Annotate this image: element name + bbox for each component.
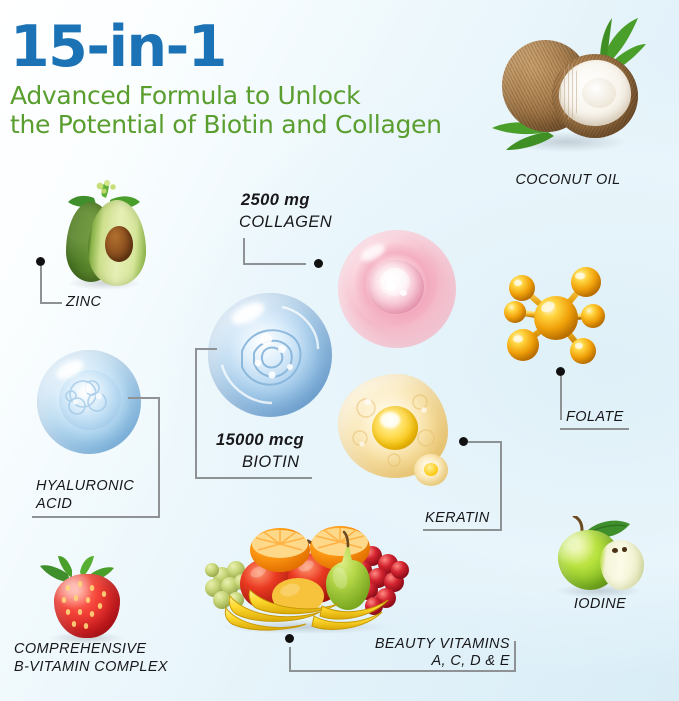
connector-dot-folate xyxy=(556,367,565,376)
connector-dot-zinc xyxy=(36,257,45,266)
label-biotin: BIOTIN xyxy=(242,452,299,472)
label-b-vitamin-complex: COMPREHENSIVE B-VITAMIN COMPLEX xyxy=(14,641,168,676)
connector-bracket-biotin-top xyxy=(195,348,217,350)
label-hyaluronic-acid: HYALURONIC ACID xyxy=(36,478,134,513)
connector-line-collagen-horizontal xyxy=(243,263,306,265)
connector-dot-beauty-vitamins xyxy=(285,634,294,643)
label-biotin-amount: 15000 mcg xyxy=(216,430,304,450)
label-collagen: COLLAGEN xyxy=(239,212,332,232)
connector-line-folate-vertical xyxy=(560,376,562,420)
label-beauty-vitamins: BEAUTY VITAMINS xyxy=(334,636,510,654)
label-beauty-vitamins-sub: A, C, D & E xyxy=(334,653,510,671)
label-folate: FOLATE xyxy=(566,409,624,427)
connector-dot-collagen xyxy=(314,259,323,268)
connector-line-zinc-horizontal xyxy=(40,302,62,304)
connector-bracket-bv-left xyxy=(289,647,291,672)
connector-bracket-ha-top xyxy=(128,397,160,399)
connector-bracket-ha-right xyxy=(158,397,160,517)
coconut-image xyxy=(486,16,646,166)
blue-sphere-image xyxy=(37,350,141,454)
connector-underline-keratin xyxy=(423,529,502,531)
subtitle-line-1: Advanced Formula to Unlock xyxy=(10,82,510,111)
label-iodine: IODINE xyxy=(548,596,652,614)
connector-line-keratin-vertical xyxy=(500,441,502,530)
amber-serum-drop-image xyxy=(336,372,456,490)
page-subtitle: Advanced Formula to Unlock the Potential… xyxy=(10,82,510,139)
connector-dot-keratin xyxy=(459,437,468,446)
connector-bracket-bv-right xyxy=(514,641,516,671)
blue-water-drop-image xyxy=(206,291,334,419)
headline-block: 15-in-1 Advanced Formula to Unlock the P… xyxy=(10,18,510,139)
strawberry-image xyxy=(36,556,136,646)
green-apple-image xyxy=(548,516,652,598)
pink-serum-drop-image xyxy=(334,226,460,352)
page-title: 15-in-1 xyxy=(10,18,510,76)
label-coconut-oil: COCONUT OIL xyxy=(488,172,648,190)
label-zinc: ZINC xyxy=(66,294,101,312)
connector-bracket-biotin-bottom xyxy=(195,477,312,479)
infographic-canvas: 15-in-1 Advanced Formula to Unlock the P… xyxy=(0,0,679,701)
connector-bracket-biotin-left xyxy=(195,348,197,478)
label-collagen-amount: 2500 mg xyxy=(241,190,310,210)
connector-bracket-ha-bottom xyxy=(32,516,160,518)
label-keratin: KERATIN xyxy=(425,510,490,528)
connector-line-zinc-vertical xyxy=(40,266,42,303)
subtitle-line-2: the Potential of Biotin and Collagen xyxy=(10,111,510,140)
avocado-image xyxy=(56,178,152,290)
connector-line-collagen-vertical xyxy=(243,238,245,265)
connector-line-keratin-horizontal xyxy=(468,441,502,443)
connector-underline-folate xyxy=(560,428,629,430)
fruit-basket-image xyxy=(196,512,412,634)
molecule-image xyxy=(494,262,622,372)
